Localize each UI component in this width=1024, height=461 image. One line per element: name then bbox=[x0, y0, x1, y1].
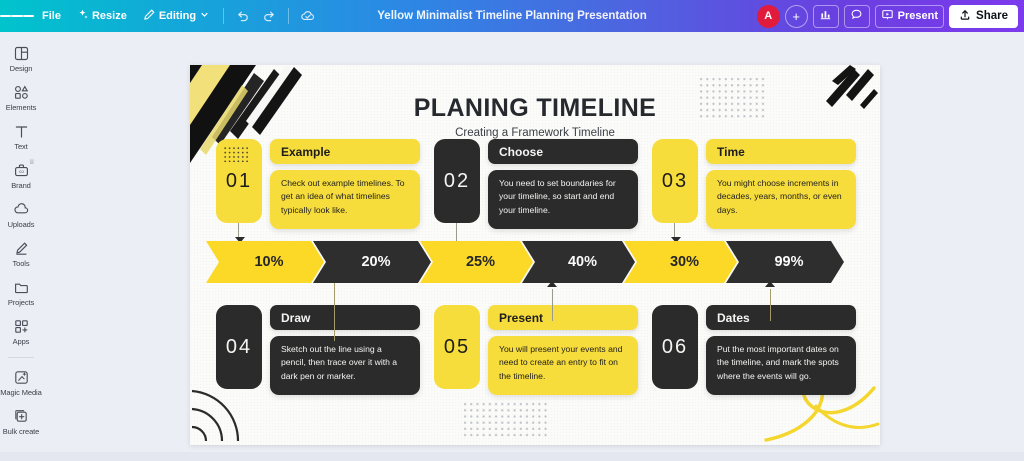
step-heading[interactable]: Draw bbox=[270, 305, 420, 330]
progress-value: 40% bbox=[560, 254, 597, 270]
comments-button[interactable] bbox=[844, 5, 870, 28]
connector-line bbox=[334, 283, 335, 341]
step-number: 04 bbox=[226, 336, 252, 359]
sidebar-item-tools[interactable]: Tools bbox=[0, 235, 42, 271]
step-number-box[interactable]: 03 bbox=[652, 139, 698, 223]
sidebar-item-label: Apps bbox=[13, 337, 30, 346]
step-body[interactable]: You need to set boundaries for your time… bbox=[488, 170, 638, 229]
step-text-column: Time You might choose increments in deca… bbox=[706, 139, 856, 229]
menu-line bbox=[23, 15, 34, 17]
menu-line bbox=[11, 15, 22, 17]
tools-icon bbox=[13, 239, 30, 257]
menu-line bbox=[0, 15, 11, 17]
sidebar-item-label: Magic Media bbox=[0, 388, 41, 397]
timeline-step-04[interactable]: 04 Draw Sketch out the line using a penc… bbox=[216, 305, 420, 395]
progress-chevron[interactable]: 10% bbox=[206, 241, 324, 283]
step-text-column: Example Check out example timelines. To … bbox=[270, 139, 420, 229]
topbar-right-group: A + Present S bbox=[757, 0, 1018, 32]
step-body[interactable]: Put the most important dates on the time… bbox=[706, 336, 856, 395]
step-heading[interactable]: Time bbox=[706, 139, 856, 164]
dot-grid-bottom-center bbox=[462, 401, 550, 439]
chevron-down-icon bbox=[200, 10, 209, 22]
step-number-box[interactable]: 05 bbox=[434, 305, 480, 389]
present-screen-icon bbox=[881, 8, 894, 24]
add-collaborator-button[interactable]: + bbox=[785, 5, 808, 28]
step-heading[interactable]: Present bbox=[488, 305, 638, 330]
canvas-area[interactable]: PLANING TIMELINE Creating a Framework Ti… bbox=[42, 32, 1024, 461]
step-number-box[interactable]: 04 bbox=[216, 305, 262, 389]
progress-chevron[interactable]: 25% bbox=[420, 241, 533, 283]
share-upload-icon bbox=[959, 9, 971, 24]
connector-line bbox=[552, 289, 553, 321]
connector-arrow-up bbox=[765, 281, 775, 287]
sidebar-item-elements[interactable]: Elements bbox=[0, 79, 42, 115]
brand-icon: co bbox=[13, 161, 30, 179]
step-number: 05 bbox=[444, 336, 470, 359]
file-menu-label: File bbox=[42, 10, 61, 22]
step-heading[interactable]: Choose bbox=[488, 139, 638, 164]
editing-label: Editing bbox=[159, 10, 196, 22]
editing-mode-button[interactable]: Editing bbox=[136, 4, 216, 28]
resize-button[interactable]: Resize bbox=[70, 4, 134, 28]
share-button[interactable]: Share bbox=[949, 5, 1018, 28]
apps-icon bbox=[13, 317, 30, 335]
progress-value: 20% bbox=[353, 254, 390, 270]
page-title: PLANING TIMELINE bbox=[190, 94, 880, 123]
step-body[interactable]: You will present your events and need to… bbox=[488, 336, 638, 395]
timeline-step-01[interactable]: 01 Example Check out example timelines. … bbox=[216, 139, 420, 229]
projects-icon bbox=[13, 278, 30, 296]
progress-chevron[interactable]: 20% bbox=[313, 241, 431, 283]
sidebar-item-label: Brand bbox=[11, 181, 31, 190]
step-text-column: Choose You need to set boundaries for yo… bbox=[488, 139, 638, 229]
sidebar-item-magic-media[interactable]: Magic Media bbox=[0, 364, 42, 400]
step-heading[interactable]: Dates bbox=[706, 305, 856, 330]
top-toolbar: File Resize Editing Ye bbox=[0, 0, 1024, 32]
step-body[interactable]: Sketch out the line using a pencil, then… bbox=[270, 336, 420, 395]
progress-chevron-band[interactable]: 10% 20% 25% 40% 30% 99% bbox=[206, 241, 866, 283]
sidebar-item-text[interactable]: Text bbox=[0, 118, 42, 154]
step-heading[interactable]: Example bbox=[270, 139, 420, 164]
timeline-step-06[interactable]: 06 Dates Put the most important dates on… bbox=[652, 305, 856, 395]
sidebar-item-apps[interactable]: Apps bbox=[0, 313, 42, 349]
design-icon bbox=[13, 44, 30, 62]
sidebar-item-label: Projects bbox=[8, 298, 34, 307]
undo-icon[interactable] bbox=[230, 4, 256, 28]
present-label: Present bbox=[898, 10, 938, 22]
sidebar-item-label: Text bbox=[14, 142, 27, 151]
connector-line bbox=[770, 289, 771, 321]
file-menu-button[interactable]: File bbox=[35, 4, 68, 28]
sidebar-item-design[interactable]: Design bbox=[0, 40, 42, 76]
sidebar-item-label: Design bbox=[10, 64, 33, 73]
toolbar-divider bbox=[288, 8, 289, 24]
share-label: Share bbox=[976, 10, 1008, 22]
step-number-box[interactable]: 06 bbox=[652, 305, 698, 389]
bar-chart-icon bbox=[819, 8, 832, 24]
connector-arrow-up bbox=[547, 281, 557, 287]
step-number-box[interactable]: 02 bbox=[434, 139, 480, 223]
magic-resize-icon bbox=[77, 9, 88, 23]
sidebar-divider bbox=[8, 357, 34, 358]
progress-value: 10% bbox=[246, 254, 283, 270]
step-number-box[interactable]: 01 bbox=[216, 139, 262, 223]
step-number: 03 bbox=[662, 170, 688, 193]
sidebar-item-uploads[interactable]: Uploads bbox=[0, 196, 42, 232]
text-icon bbox=[13, 122, 30, 140]
left-sidebar: Design Elements Text ♕ co Brand Upl bbox=[0, 32, 42, 461]
step-body[interactable]: Check out example timelines. To get an i… bbox=[270, 170, 420, 229]
connector-line bbox=[674, 223, 675, 237]
svg-text:co: co bbox=[19, 169, 24, 174]
sidebar-item-bulk-create[interactable]: Bulk create bbox=[0, 403, 42, 439]
insights-button[interactable] bbox=[813, 5, 839, 28]
avatar[interactable]: A bbox=[757, 5, 780, 28]
comment-bubble-icon bbox=[850, 8, 863, 24]
progress-value: 99% bbox=[766, 254, 803, 270]
progress-chevron[interactable]: 40% bbox=[522, 241, 635, 283]
sidebar-item-label: Tools bbox=[12, 259, 29, 268]
main-menu-icon[interactable] bbox=[0, 0, 34, 32]
document-title[interactable]: Yellow Minimalist Timeline Planning Pres… bbox=[377, 10, 646, 22]
step-number: 01 bbox=[226, 170, 252, 193]
step-text-column: Present You will present your events and… bbox=[488, 305, 638, 395]
sidebar-item-label: Uploads bbox=[8, 220, 35, 229]
sidebar-item-label: Bulk create bbox=[3, 427, 39, 436]
timeline-step-03[interactable]: 03 Time You might choose increments in d… bbox=[652, 139, 856, 229]
progress-value: 30% bbox=[662, 254, 699, 270]
pencil-icon bbox=[143, 9, 155, 24]
sidebar-item-brand[interactable]: ♕ co Brand bbox=[0, 157, 42, 193]
slide-canvas[interactable]: PLANING TIMELINE Creating a Framework Ti… bbox=[190, 65, 880, 445]
progress-value: 25% bbox=[458, 254, 495, 270]
sidebar-item-label: Elements bbox=[6, 103, 36, 112]
connector-line bbox=[238, 223, 239, 237]
present-button[interactable]: Present bbox=[875, 5, 944, 28]
cloud-saved-icon[interactable] bbox=[295, 4, 321, 28]
step-number: 02 bbox=[444, 170, 470, 193]
timeline-step-02[interactable]: 02 Choose You need to set boundaries for… bbox=[434, 139, 638, 229]
resize-label: Resize bbox=[92, 10, 127, 22]
step-body[interactable]: You might choose increments in decades, … bbox=[706, 170, 856, 229]
page-subtitle: Creating a Framework Timeline bbox=[190, 127, 880, 139]
crown-icon: ♕ bbox=[29, 158, 35, 166]
redo-icon[interactable] bbox=[256, 4, 282, 28]
bottom-status-bar bbox=[0, 452, 1024, 461]
toolbar-divider bbox=[223, 8, 224, 24]
bulk-create-icon bbox=[13, 407, 30, 425]
uploads-icon bbox=[13, 200, 30, 218]
progress-chevron[interactable]: 30% bbox=[624, 241, 737, 283]
timeline-steps-bottom-row: 04 Draw Sketch out the line using a penc… bbox=[216, 305, 856, 395]
timeline-steps-top-row: 01 Example Check out example timelines. … bbox=[216, 139, 856, 229]
dot-pattern-icon bbox=[223, 146, 249, 162]
sidebar-item-projects[interactable]: Projects bbox=[0, 274, 42, 310]
step-number: 06 bbox=[662, 336, 688, 359]
elements-icon bbox=[13, 83, 30, 101]
progress-chevron[interactable]: 99% bbox=[726, 241, 844, 283]
magic-media-icon bbox=[13, 368, 30, 386]
canva-editor-window: File Resize Editing Ye bbox=[0, 0, 1024, 461]
timeline-step-05[interactable]: 05 Present You will present your events … bbox=[434, 305, 638, 395]
step-text-column: Dates Put the most important dates on th… bbox=[706, 305, 856, 395]
step-text-column: Draw Sketch out the line using a pencil,… bbox=[270, 305, 420, 395]
